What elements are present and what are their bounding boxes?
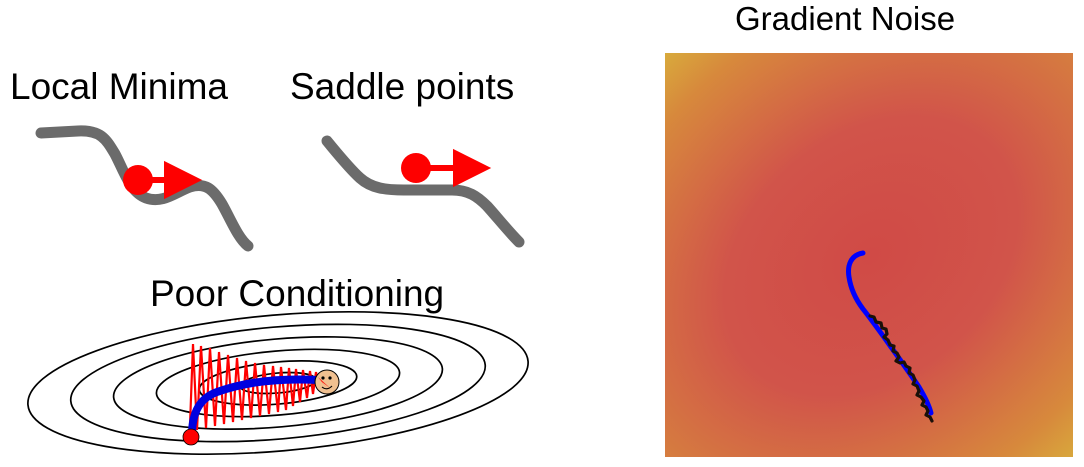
face-eye-left — [321, 376, 324, 379]
figure-canvas: Local Minima Saddle points Poor Conditio… — [0, 0, 1084, 467]
face-eye-right — [328, 376, 331, 379]
saddle-points-ball — [401, 153, 431, 183]
poor-conditioning-diagram — [22, 293, 534, 467]
face-head — [315, 370, 339, 394]
local-minima-ball — [123, 165, 153, 195]
gradient-noise-figure — [665, 53, 1073, 457]
optimum-face-icon — [315, 370, 339, 394]
start-point-dot — [183, 429, 199, 445]
gradient-noise-trajectories — [665, 53, 1073, 457]
saddle-points-diagram — [327, 141, 519, 242]
local-minima-diagram — [41, 131, 248, 246]
